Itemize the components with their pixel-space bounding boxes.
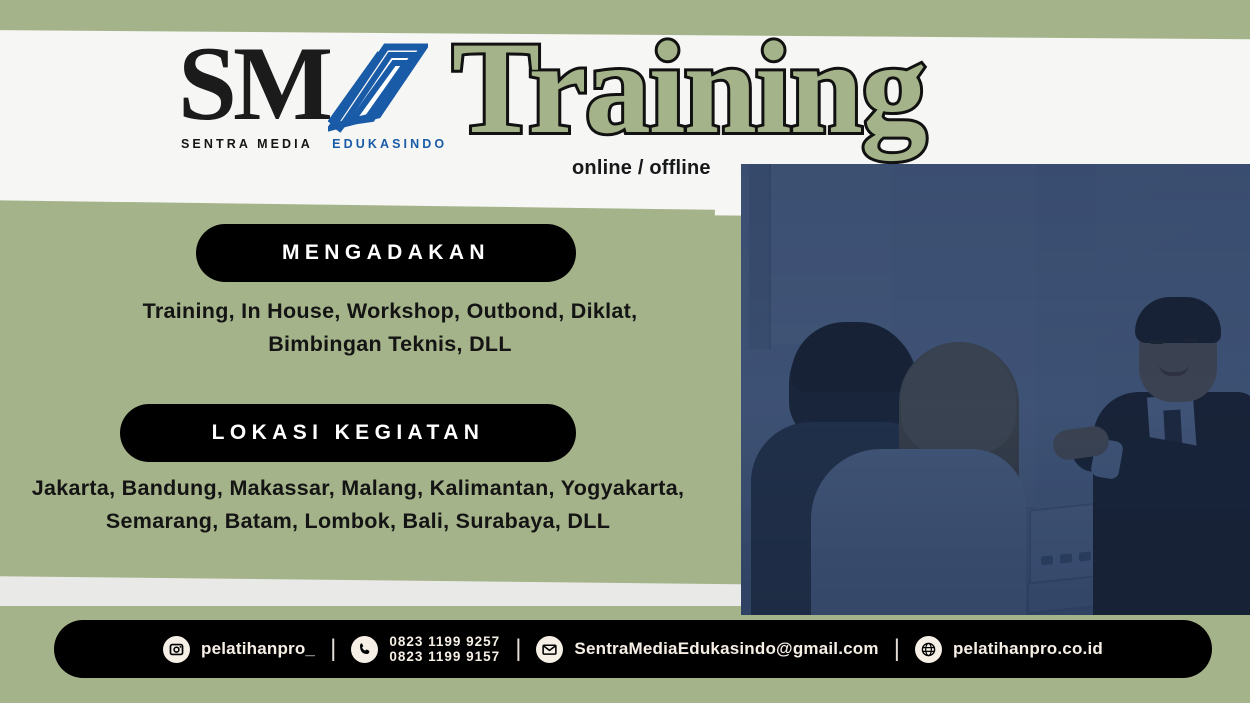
logo-wordmark: SENTRA MEDIA EDUKASINDO [181,137,447,151]
page-title: Training [452,22,925,154]
logo-wordmark-sentra-media: SENTRA MEDIA [181,137,312,151]
book-pages-icon [328,35,428,140]
globe-icon [915,636,942,663]
footer-separator-3: | [879,635,915,663]
meeting-photo [741,164,1250,615]
instagram-handle: pelatihanpro_ [201,639,315,659]
section-body-mengadakan: Training, In House, Workshop, Outbond, D… [90,295,690,362]
phone-numbers: 0823 1199 9257 0823 1199 9157 [389,634,500,664]
mail-icon [536,636,563,663]
photo-blue-tint-overlay [741,164,1250,615]
section-badge-lokasi-kegiatan: LOKASI KEGIATAN [120,404,576,462]
logo-wordmark-edukasindo: EDUKASINDO [332,137,447,151]
phone-number-1: 0823 1199 9257 [389,634,500,649]
company-logo: SM SENTRA MEDIA EDUKASIN [178,33,438,153]
instagram-icon [163,636,190,663]
website-url: pelatihanpro.co.id [953,639,1103,659]
contact-phone[interactable]: 0823 1199 9257 0823 1199 9157 [351,634,500,664]
page-subtitle: online / offline [572,157,711,180]
contact-website[interactable]: pelatihanpro.co.id [915,636,1103,663]
contact-footer-bar: pelatihanpro_ | 0823 1199 9257 0823 1199… [54,620,1212,678]
section-badge-mengadakan: MENGADAKAN [196,224,576,282]
poster-canvas: SM SENTRA MEDIA EDUKASIN [0,0,1250,703]
email-address: SentraMediaEdukasindo@gmail.com [574,639,878,659]
phone-icon [351,636,378,663]
logo-monogram: SM [178,31,329,137]
section-body-lokasi-kegiatan: Jakarta, Bandung, Makassar, Malang, Kali… [28,472,688,539]
footer-separator-2: | [500,635,536,663]
contact-instagram[interactable]: pelatihanpro_ [163,636,315,663]
phone-number-2: 0823 1199 9157 [389,649,500,664]
contact-email[interactable]: SentraMediaEdukasindo@gmail.com [536,636,878,663]
footer-separator-1: | [315,635,351,663]
